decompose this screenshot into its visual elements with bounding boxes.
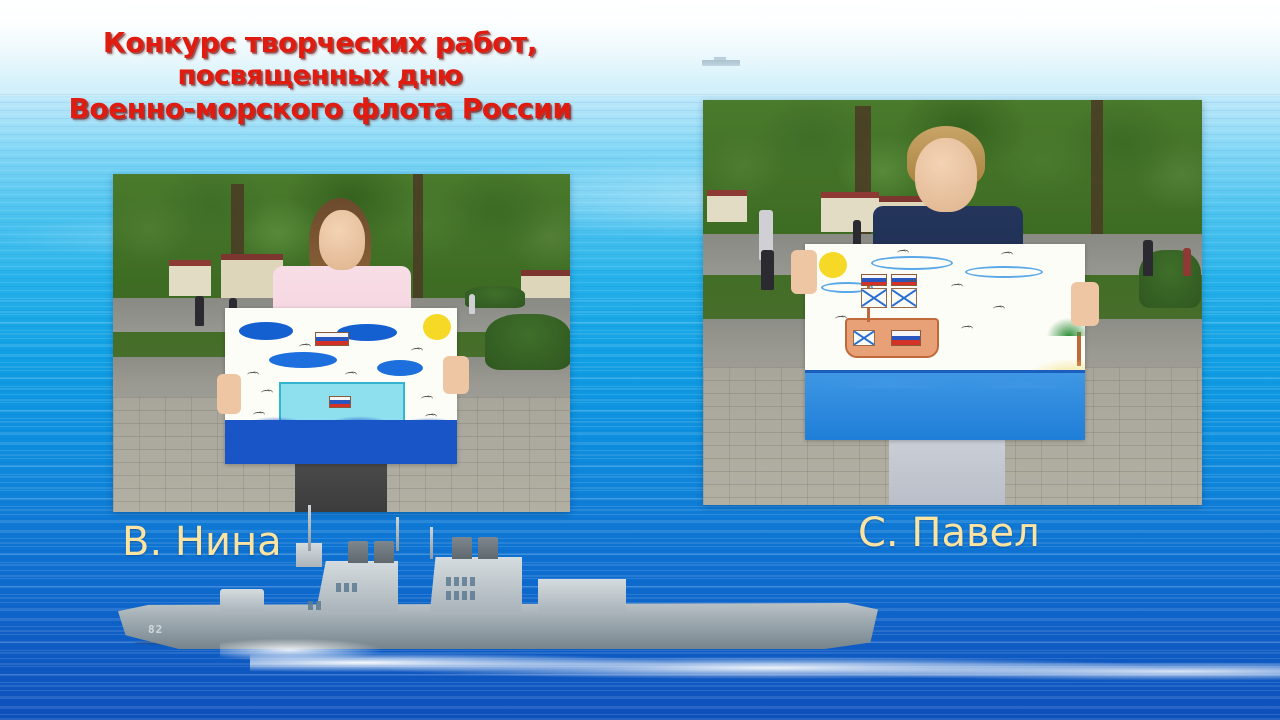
ship-aft-superstructure — [430, 557, 522, 611]
slide-stage: Конкурс творческих работ, посвященных дн… — [0, 0, 1280, 720]
drawing-sea — [225, 420, 457, 464]
drawing-bird — [411, 348, 420, 354]
park-building — [169, 260, 211, 296]
drawing-bird — [951, 284, 960, 290]
ship-antenna-mast — [396, 517, 399, 551]
drawing-bird — [253, 412, 262, 418]
child-head — [319, 210, 365, 270]
drawing-bird — [345, 372, 354, 378]
drawing-flag-st-andrew — [853, 330, 875, 346]
child-hand-left — [791, 250, 817, 294]
park-scene-right — [703, 100, 1202, 505]
drawing-sun — [819, 252, 847, 278]
ship-funnel — [452, 537, 472, 559]
drawing-bird — [421, 396, 430, 402]
park-scene-left — [113, 174, 570, 512]
hedge — [485, 314, 570, 370]
horizon-ship-silhouette — [702, 60, 740, 66]
ship-window-row — [336, 583, 357, 592]
ship-window-row — [446, 577, 475, 586]
drawing-cloud — [239, 322, 293, 340]
drawing-cloud — [871, 256, 953, 270]
child-hand-right — [443, 356, 469, 394]
ship-hangar — [538, 579, 626, 611]
drawing-bird — [299, 344, 308, 350]
ship-forward-deckhouse — [220, 589, 264, 611]
photo-card-left[interactable] — [113, 174, 570, 512]
park-pavilion — [707, 190, 747, 222]
ship-bridge — [316, 561, 398, 611]
drawing-cloud — [965, 266, 1043, 278]
background-person — [1143, 240, 1153, 276]
drawing-bird — [261, 390, 270, 396]
drawing-bird — [835, 316, 844, 322]
photo-card-right[interactable] — [703, 100, 1202, 505]
ship-funnel — [348, 541, 368, 563]
caption-right: С. Павел — [858, 510, 1040, 556]
hull-number: 82 — [148, 623, 163, 636]
title-line-2: посвященных дню — [0, 59, 640, 92]
child-pants — [889, 430, 1005, 505]
child-hand-right — [1071, 282, 1099, 326]
drawing-wave-crest — [805, 366, 1085, 388]
background-person — [469, 294, 475, 314]
drawing-bird — [247, 372, 256, 378]
drawing-flag-russia-ship — [329, 396, 351, 408]
background-person — [853, 220, 861, 246]
drawing-bird — [1001, 252, 1010, 258]
ship-funnel — [374, 541, 394, 563]
drawing-flag-russia-sky — [315, 332, 349, 346]
drawing-left — [225, 308, 457, 464]
ship-antenna-mast — [430, 527, 433, 559]
drawing-cloud — [269, 352, 337, 368]
ship-window-row — [446, 591, 475, 600]
title-line-1: Конкурс творческих работ, — [0, 26, 640, 59]
title-line-3: Военно-морского флота России — [0, 92, 640, 125]
drawing-flag-st-andrew — [891, 288, 917, 308]
drawing-flag-russia — [861, 274, 887, 286]
drawing-bird — [905, 280, 914, 286]
ship-wake — [250, 645, 1280, 689]
drawing-bird — [425, 414, 434, 420]
drawing-bird — [897, 250, 906, 256]
ship-main-mast — [308, 505, 311, 551]
caption-left: В. Нина — [122, 519, 282, 565]
ship-window-row — [308, 601, 321, 610]
drawing-bird — [993, 306, 1002, 312]
drawing-right — [805, 244, 1085, 440]
drawing-bird — [961, 326, 970, 332]
child-head — [915, 138, 977, 212]
ship-funnel — [478, 537, 498, 559]
drawing-flag-st-andrew — [861, 288, 887, 308]
slide-title: Конкурс творческих работ, посвященных дн… — [0, 26, 640, 125]
park-building — [821, 192, 879, 232]
background-person — [1183, 248, 1191, 276]
drawing-sun — [423, 314, 451, 340]
child-hand-left — [217, 374, 241, 414]
background-person — [195, 296, 204, 326]
drawing-flag-russia — [891, 330, 921, 346]
background-person — [761, 250, 774, 290]
drawing-cloud — [377, 360, 423, 376]
